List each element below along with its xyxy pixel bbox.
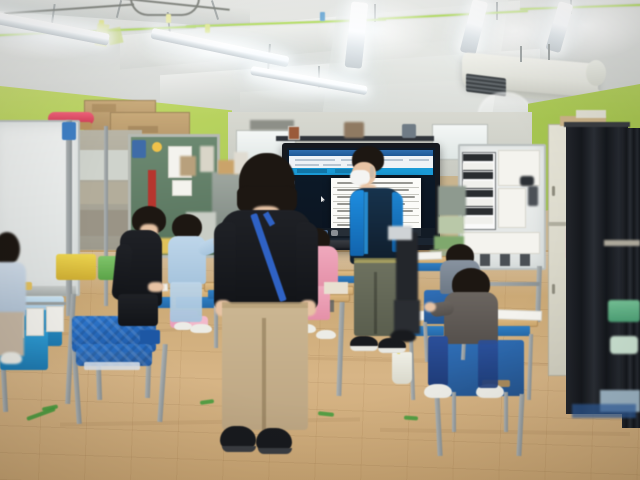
whiteboard-frame <box>66 120 72 316</box>
shoe-sole <box>350 346 378 351</box>
child-seated-grey-body <box>444 292 498 344</box>
adult-partial-left-of-children <box>396 232 418 304</box>
cabinet-handle <box>552 186 555 196</box>
child-edge-left-lower <box>0 312 24 356</box>
cabinet-handle <box>552 284 555 294</box>
child-blue-sweater-shoe <box>190 324 212 333</box>
selection-label <box>297 169 327 173</box>
light-glow <box>316 0 436 64</box>
photo-card <box>480 254 490 266</box>
schedule-row <box>463 208 493 215</box>
display-sensor <box>402 124 416 138</box>
back-shelf <box>438 186 466 216</box>
trouser-seam <box>374 272 377 334</box>
light-glow <box>520 0 640 60</box>
jacket-blue-panel <box>350 190 364 256</box>
chair-leg <box>504 392 508 432</box>
mouse-cursor-icon <box>321 196 325 202</box>
schedule-row <box>463 199 493 207</box>
ac-hanger <box>520 46 522 62</box>
blackout-curtain[interactable] <box>622 128 640 428</box>
adult-helping-left-hand <box>148 282 164 292</box>
board-hook <box>528 186 538 206</box>
child-edge-left-shoe <box>0 352 22 364</box>
shelf-object <box>344 122 364 138</box>
cord-clip <box>166 14 171 23</box>
board-magnet <box>520 176 534 186</box>
child-blue-sweater-shoe <box>174 322 192 330</box>
waistband <box>222 302 308 308</box>
posted-notice <box>498 188 526 228</box>
whiteboard-clip <box>62 122 76 140</box>
belt <box>354 258 398 263</box>
shoe-sole <box>222 446 256 452</box>
child-edge-left-body <box>0 262 26 316</box>
photo-card <box>500 254 510 266</box>
cabinet-top-items <box>576 110 606 118</box>
adult-partial-legs <box>394 300 420 334</box>
green-basket <box>608 300 640 322</box>
schedule-row <box>463 217 493 224</box>
back-shelf-item <box>438 216 464 234</box>
woman-standing-foreground-arm <box>214 222 236 310</box>
chair-leg <box>452 392 456 432</box>
desk-drawer <box>494 326 530 336</box>
held-paper <box>388 226 412 240</box>
schedule-row <box>463 163 493 171</box>
schedule-row <box>463 190 493 197</box>
desk-paper <box>324 282 348 294</box>
hanging-towel <box>26 308 44 336</box>
pointer-stick <box>148 170 156 210</box>
hanging-towel <box>46 306 64 332</box>
jacket-stripe <box>364 192 368 254</box>
child-blue-sweater-lower <box>170 282 202 322</box>
woman-standing-foreground-arm <box>296 222 318 310</box>
ceiling-cable-loop <box>130 0 200 16</box>
photo-card <box>520 254 530 266</box>
child-seated-grey-hand <box>424 302 436 312</box>
trouser-seam <box>262 318 266 430</box>
ac-end-cap <box>586 60 606 86</box>
shelf-board <box>604 240 640 246</box>
adult-partial-shoe <box>390 330 416 342</box>
schedule-row <box>463 154 493 161</box>
child-seated-grey-leg <box>428 336 448 386</box>
adult-helping-left-legs <box>118 294 158 326</box>
shoe-sole <box>378 348 406 353</box>
schedule-row <box>463 181 493 189</box>
box-label <box>92 104 116 112</box>
posted-notice <box>462 232 540 254</box>
worksheet-paper <box>494 309 542 321</box>
board-notice <box>172 180 192 196</box>
child-seated-grey-leg <box>478 340 498 388</box>
back-shelf-item <box>180 156 196 176</box>
chair-seat-edge <box>84 362 140 370</box>
curtain-rail <box>564 122 630 127</box>
board-magnet <box>132 140 146 158</box>
floor-mat-edge <box>572 404 636 418</box>
ac-hanger <box>548 44 550 60</box>
child-seated-grey-shoe <box>424 384 452 398</box>
yellow-basket <box>56 254 96 280</box>
schedule-row <box>463 172 493 179</box>
shoe-sole <box>258 448 292 454</box>
board-sticker <box>152 142 162 152</box>
storage-item <box>610 336 638 354</box>
mask-ear-loop <box>370 166 374 178</box>
child-seated-pink-shoe <box>316 330 336 339</box>
tote-bag <box>392 352 412 384</box>
classroom-photo <box>0 0 640 480</box>
back-shelf-item <box>200 146 214 172</box>
chair-quilt-fold <box>140 330 160 344</box>
display-camera <box>288 126 300 140</box>
blackout-curtain[interactable] <box>566 124 628 414</box>
